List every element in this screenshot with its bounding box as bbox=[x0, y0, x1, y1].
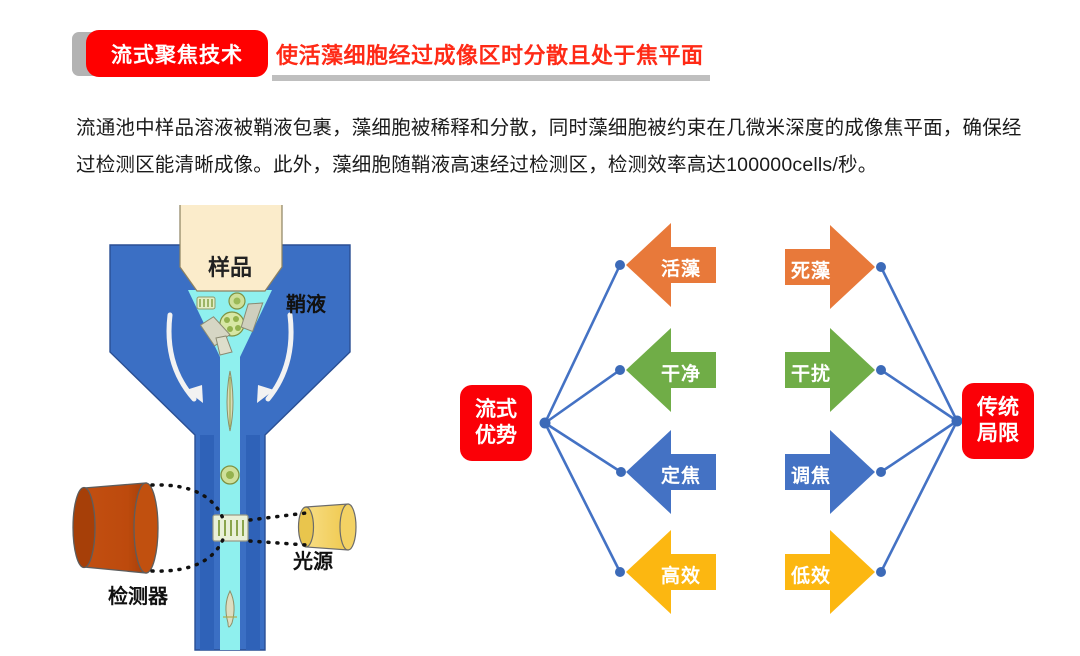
light-source-cylinder bbox=[299, 504, 357, 550]
detector-cylinder bbox=[73, 483, 158, 573]
connector-node-dots bbox=[615, 260, 886, 577]
flowcell-label-light-source: 光源 bbox=[293, 545, 333, 574]
channel-wall-left bbox=[200, 435, 214, 650]
hub-left-line2: 优势 bbox=[475, 423, 517, 449]
hub-right: 传统 局限 bbox=[962, 383, 1034, 459]
arrow-label-right-1: 干扰 bbox=[791, 359, 831, 386]
flow-cell-illustration: 样品 鞘液 检测器 光源 bbox=[60, 205, 460, 655]
flowcell-label-sheath: 鞘液 bbox=[286, 288, 326, 317]
arrow-label-left-1: 干净 bbox=[661, 359, 701, 386]
header: 流式聚焦技术 使活藻细胞经过成像区时分散且处于焦平面 bbox=[0, 0, 1080, 95]
connector-lines-left bbox=[545, 265, 621, 572]
hub-dot-left bbox=[540, 418, 551, 429]
hub-right-line1: 传统 bbox=[977, 395, 1019, 421]
arrow-label-right-3: 低效 bbox=[791, 561, 831, 588]
arrow-label-left-3: 高效 bbox=[661, 561, 701, 588]
arrow-label-right-2: 调焦 bbox=[791, 461, 831, 488]
header-badge: 流式聚焦技术 bbox=[86, 30, 268, 77]
flowcell-label-detector: 检测器 bbox=[108, 580, 168, 609]
body-paragraph: 流通池中样品溶液被鞘液包裹，藻细胞被稀释和分散，同时藻细胞被约束在几微米深度的成… bbox=[76, 110, 1036, 184]
arrow-label-left-0: 活藻 bbox=[661, 254, 701, 281]
flowcell-label-sample: 样品 bbox=[208, 250, 252, 282]
hub-dot-right bbox=[952, 416, 963, 427]
header-underline bbox=[272, 75, 710, 81]
comparison-diagram: 流式 优势 传统 局限 活藻 干净 定焦 高效 死藻 干扰 调焦 低效 bbox=[450, 215, 1080, 645]
hub-right-line2: 局限 bbox=[977, 421, 1019, 447]
connector-lines-right bbox=[881, 267, 957, 572]
algae-cell-detection-zone bbox=[213, 515, 248, 541]
arrow-label-right-0: 死藻 bbox=[791, 256, 831, 283]
algae-cell-round bbox=[221, 466, 239, 484]
hub-left: 流式 优势 bbox=[460, 385, 532, 461]
hub-left-line1: 流式 bbox=[475, 397, 517, 423]
header-subtitle: 使活藻细胞经过成像区时分散且处于焦平面 bbox=[276, 38, 704, 70]
arrow-label-left-2: 定焦 bbox=[661, 461, 701, 488]
slide-root: 流式聚焦技术 使活藻细胞经过成像区时分散且处于焦平面 流通池中样品溶液被鞘液包裹… bbox=[0, 0, 1080, 656]
